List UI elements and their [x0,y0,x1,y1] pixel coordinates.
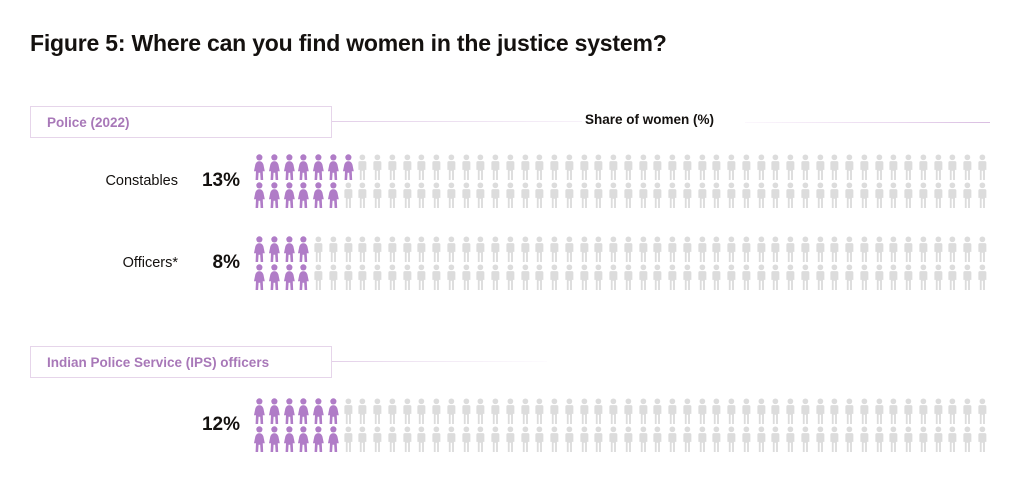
male-figure-icon [326,235,341,263]
male-figure-icon [532,181,547,209]
row-label-constables: Constables 13% [105,153,252,209]
male-figure-icon [311,263,326,291]
male-figure-icon [326,263,341,291]
female-figure-icon [326,397,341,425]
female-figure-icon [252,153,267,181]
male-figure-icon [813,263,828,291]
row-name-constables: Constables [105,173,178,189]
male-figure-icon [518,425,533,453]
male-figure-icon [636,235,651,263]
male-figure-icon [385,263,400,291]
male-figure-icon [577,153,592,181]
male-figure-icon [650,263,665,291]
male-figure-icon [827,263,842,291]
male-figure-icon [724,397,739,425]
male-figure-icon [724,425,739,453]
male-figure-icon [665,181,680,209]
male-figure-icon [562,153,577,181]
male-figure-icon [931,397,946,425]
section-rule-ips [332,361,547,362]
male-figure-icon [842,235,857,263]
male-figure-icon [872,425,887,453]
male-figure-icon [400,263,415,291]
male-figure-icon [975,153,990,181]
pictogram-row-officers: Officers* 8% [252,235,990,291]
male-figure-icon [562,425,577,453]
male-figure-icon [901,397,916,425]
male-figure-icon [945,263,960,291]
male-figure-icon [783,397,798,425]
section-label-police: Police (2022) [47,115,130,130]
male-figure-icon [827,425,842,453]
male-figure-icon [355,181,370,209]
male-figure-icon [591,425,606,453]
male-figure-icon [621,153,636,181]
male-figure-icon [842,397,857,425]
male-figure-icon [650,181,665,209]
male-figure-icon [532,397,547,425]
male-figure-icon [695,235,710,263]
female-figure-icon [296,263,311,291]
male-figure-icon [754,181,769,209]
male-figure-icon [960,235,975,263]
male-figure-icon [444,397,459,425]
female-figure-icon [267,397,282,425]
female-figure-icon [252,263,267,291]
female-figure-icon [282,181,297,209]
male-figure-icon [621,235,636,263]
male-figure-icon [488,153,503,181]
male-figure-icon [680,263,695,291]
male-figure-icon [355,153,370,181]
male-figure-icon [783,263,798,291]
section-rule-police [332,121,582,122]
male-figure-icon [400,235,415,263]
male-figure-icon [459,153,474,181]
male-figure-icon [444,181,459,209]
female-figure-icon [341,153,356,181]
male-figure-icon [945,425,960,453]
male-figure-icon [872,235,887,263]
male-figure-icon [783,425,798,453]
male-figure-icon [650,425,665,453]
male-figure-icon [768,425,783,453]
male-figure-icon [901,425,916,453]
male-figure-icon [355,263,370,291]
male-figure-icon [842,181,857,209]
male-figure-icon [562,263,577,291]
row-value-officers: 8% [192,252,252,274]
section-label-box-ips: Indian Police Service (IPS) officers [30,346,332,378]
male-figure-icon [355,235,370,263]
column-header-rule [745,122,990,123]
male-figure-icon [709,425,724,453]
male-figure-icon [400,181,415,209]
male-figure-icon [370,153,385,181]
male-figure-icon [341,235,356,263]
male-figure-icon [768,397,783,425]
female-figure-icon [282,425,297,453]
male-figure-icon [547,263,562,291]
male-figure-icon [754,397,769,425]
male-figure-icon [414,425,429,453]
male-figure-icon [429,425,444,453]
male-figure-icon [886,397,901,425]
male-figure-icon [916,181,931,209]
icon-band [252,235,990,263]
male-figure-icon [341,263,356,291]
female-figure-icon [267,181,282,209]
male-figure-icon [355,397,370,425]
male-figure-icon [606,397,621,425]
male-figure-icon [577,425,592,453]
male-figure-icon [473,397,488,425]
female-figure-icon [282,397,297,425]
male-figure-icon [695,397,710,425]
male-figure-icon [503,263,518,291]
male-figure-icon [916,425,931,453]
male-figure-icon [591,263,606,291]
male-figure-icon [503,181,518,209]
icon-band [252,397,990,425]
male-figure-icon [739,397,754,425]
male-figure-icon [621,263,636,291]
male-figure-icon [444,425,459,453]
male-figure-icon [680,153,695,181]
male-figure-icon [636,263,651,291]
female-figure-icon [252,181,267,209]
male-figure-icon [518,263,533,291]
column-header-share-of-women: Share of women (%) [585,112,714,127]
male-figure-icon [842,263,857,291]
male-figure-icon [709,235,724,263]
male-figure-icon [429,397,444,425]
page-title: Figure 5: Where can you find women in th… [30,30,667,57]
section-label-box-police: Police (2022) [30,106,332,138]
male-figure-icon [768,181,783,209]
female-figure-icon [311,153,326,181]
male-figure-icon [665,263,680,291]
male-figure-icon [827,235,842,263]
male-figure-icon [813,397,828,425]
male-figure-icon [503,235,518,263]
female-figure-icon [282,235,297,263]
female-figure-icon [282,153,297,181]
row-label-officers: Officers* 8% [123,235,252,291]
male-figure-icon [606,263,621,291]
male-figure-icon [798,397,813,425]
male-figure-icon [724,181,739,209]
male-figure-icon [532,425,547,453]
male-figure-icon [975,425,990,453]
male-figure-icon [562,235,577,263]
pictogram-row-ips: 12% [252,397,990,453]
male-figure-icon [650,397,665,425]
male-figure-icon [798,181,813,209]
male-figure-icon [901,263,916,291]
male-figure-icon [370,425,385,453]
icon-band [252,263,990,291]
male-figure-icon [606,181,621,209]
male-figure-icon [532,235,547,263]
female-figure-icon [296,425,311,453]
female-figure-icon [252,397,267,425]
female-figure-icon [311,397,326,425]
male-figure-icon [886,425,901,453]
male-figure-icon [547,181,562,209]
male-figure-icon [754,425,769,453]
male-figure-icon [872,153,887,181]
male-figure-icon [872,263,887,291]
male-figure-icon [813,425,828,453]
row-label-ips: 12% [178,397,252,453]
male-figure-icon [975,263,990,291]
male-figure-icon [518,181,533,209]
male-figure-icon [709,153,724,181]
section-label-ips: Indian Police Service (IPS) officers [47,355,269,370]
male-figure-icon [444,153,459,181]
male-figure-icon [341,425,356,453]
icon-grid-ips [252,397,990,453]
female-figure-icon [296,181,311,209]
male-figure-icon [931,263,946,291]
row-value-constables: 13% [192,170,252,192]
male-figure-icon [503,425,518,453]
male-figure-icon [872,397,887,425]
male-figure-icon [724,235,739,263]
male-figure-icon [459,397,474,425]
male-figure-icon [680,235,695,263]
male-figure-icon [414,397,429,425]
male-figure-icon [827,397,842,425]
female-figure-icon [267,235,282,263]
male-figure-icon [636,425,651,453]
male-figure-icon [901,181,916,209]
male-figure-icon [518,235,533,263]
male-figure-icon [665,153,680,181]
male-figure-icon [650,153,665,181]
male-figure-icon [754,263,769,291]
male-figure-icon [754,235,769,263]
male-figure-icon [886,235,901,263]
male-figure-icon [650,235,665,263]
row-value-ips: 12% [192,414,252,436]
male-figure-icon [916,235,931,263]
male-figure-icon [473,263,488,291]
male-figure-icon [341,181,356,209]
female-figure-icon [296,235,311,263]
row-name-officers: Officers* [123,255,178,271]
male-figure-icon [960,153,975,181]
male-figure-icon [473,153,488,181]
male-figure-icon [842,425,857,453]
male-figure-icon [370,181,385,209]
male-figure-icon [975,397,990,425]
male-figure-icon [429,181,444,209]
female-figure-icon [326,181,341,209]
icon-band [252,425,990,453]
male-figure-icon [960,397,975,425]
male-figure-icon [591,235,606,263]
male-figure-icon [945,153,960,181]
male-figure-icon [931,153,946,181]
female-figure-icon [311,425,326,453]
male-figure-icon [783,153,798,181]
male-figure-icon [606,235,621,263]
male-figure-icon [945,181,960,209]
section-header-ips: Indian Police Service (IPS) officers [30,346,990,378]
male-figure-icon [901,235,916,263]
male-figure-icon [680,425,695,453]
female-figure-icon [296,153,311,181]
male-figure-icon [547,153,562,181]
male-figure-icon [577,235,592,263]
female-figure-icon [252,425,267,453]
male-figure-icon [695,263,710,291]
male-figure-icon [680,181,695,209]
male-figure-icon [931,235,946,263]
male-figure-icon [473,235,488,263]
male-figure-icon [503,397,518,425]
male-figure-icon [488,235,503,263]
male-figure-icon [621,425,636,453]
male-figure-icon [931,181,946,209]
male-figure-icon [842,153,857,181]
male-figure-icon [414,181,429,209]
female-figure-icon [311,181,326,209]
male-figure-icon [798,153,813,181]
male-figure-icon [444,263,459,291]
female-figure-icon [282,263,297,291]
male-figure-icon [370,263,385,291]
male-figure-icon [857,235,872,263]
male-figure-icon [960,263,975,291]
male-figure-icon [414,153,429,181]
male-figure-icon [400,397,415,425]
male-figure-icon [739,153,754,181]
male-figure-icon [739,425,754,453]
male-figure-icon [768,235,783,263]
male-figure-icon [562,397,577,425]
male-figure-icon [695,425,710,453]
male-figure-icon [768,263,783,291]
female-figure-icon [252,235,267,263]
male-figure-icon [414,263,429,291]
female-figure-icon [296,397,311,425]
male-figure-icon [385,397,400,425]
male-figure-icon [931,425,946,453]
male-figure-icon [813,235,828,263]
male-figure-icon [724,153,739,181]
male-figure-icon [547,397,562,425]
male-figure-icon [709,397,724,425]
male-figure-icon [975,235,990,263]
male-figure-icon [960,181,975,209]
male-figure-icon [385,181,400,209]
female-figure-icon [267,153,282,181]
male-figure-icon [311,235,326,263]
male-figure-icon [813,181,828,209]
male-figure-icon [945,235,960,263]
male-figure-icon [975,181,990,209]
male-figure-icon [636,181,651,209]
male-figure-icon [857,397,872,425]
male-figure-icon [577,397,592,425]
male-figure-icon [945,397,960,425]
male-figure-icon [798,263,813,291]
male-figure-icon [444,235,459,263]
male-figure-icon [577,181,592,209]
male-figure-icon [532,263,547,291]
male-figure-icon [606,425,621,453]
male-figure-icon [886,181,901,209]
male-figure-icon [813,153,828,181]
male-figure-icon [798,235,813,263]
male-figure-icon [886,153,901,181]
male-figure-icon [459,263,474,291]
male-figure-icon [547,235,562,263]
male-figure-icon [916,397,931,425]
male-figure-icon [665,397,680,425]
male-figure-icon [754,153,769,181]
male-figure-icon [400,425,415,453]
male-figure-icon [783,181,798,209]
male-figure-icon [798,425,813,453]
male-figure-icon [591,397,606,425]
male-figure-icon [547,425,562,453]
male-figure-icon [709,181,724,209]
male-figure-icon [400,153,415,181]
male-figure-icon [562,181,577,209]
icon-band [252,153,990,181]
male-figure-icon [768,153,783,181]
male-figure-icon [355,425,370,453]
male-figure-icon [695,153,710,181]
male-figure-icon [459,425,474,453]
male-figure-icon [370,397,385,425]
male-figure-icon [591,153,606,181]
male-figure-icon [680,397,695,425]
male-figure-icon [739,263,754,291]
male-figure-icon [916,153,931,181]
male-figure-icon [385,153,400,181]
male-figure-icon [429,153,444,181]
male-figure-icon [518,153,533,181]
male-figure-icon [872,181,887,209]
male-figure-icon [385,425,400,453]
pictogram-row-constables: Constables 13% [252,153,990,209]
male-figure-icon [636,153,651,181]
male-figure-icon [709,263,724,291]
male-figure-icon [518,397,533,425]
male-figure-icon [901,153,916,181]
male-figure-icon [621,397,636,425]
male-figure-icon [636,397,651,425]
male-figure-icon [385,235,400,263]
male-figure-icon [473,425,488,453]
female-figure-icon [326,425,341,453]
female-figure-icon [267,263,282,291]
male-figure-icon [621,181,636,209]
male-figure-icon [665,235,680,263]
male-figure-icon [739,181,754,209]
male-figure-icon [857,425,872,453]
male-figure-icon [695,181,710,209]
male-figure-icon [414,235,429,263]
male-figure-icon [503,153,518,181]
male-figure-icon [857,263,872,291]
male-figure-icon [591,181,606,209]
